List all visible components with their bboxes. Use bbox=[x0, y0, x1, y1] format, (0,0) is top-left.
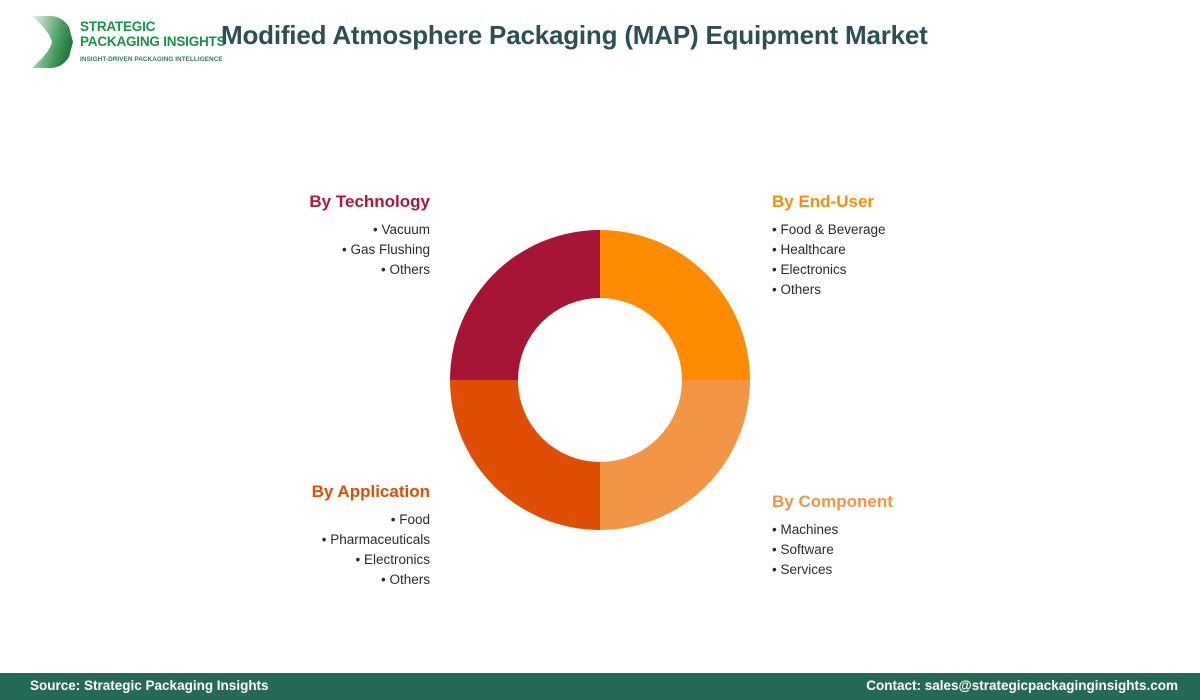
page-header: STRATEGIC PACKAGING INSIGHTS INSIGHT-DRI… bbox=[0, 0, 1200, 90]
page-footer: Source: Strategic Packaging Insights Con… bbox=[0, 673, 1200, 700]
logo-tagline: INSIGHT-DRIVEN PACKAGING INTELLIGENCE bbox=[80, 56, 205, 63]
segment-block-enduser: By End-User Food & Beverage Healthcare E… bbox=[772, 192, 1012, 300]
logo-wordmark: STRATEGIC PACKAGING INSIGHTS INSIGHT-DRI… bbox=[80, 20, 205, 63]
market-segmentation-donut-chart bbox=[450, 230, 750, 530]
donut-center-hole bbox=[518, 298, 682, 462]
segment-title-enduser: By End-User bbox=[772, 192, 1012, 212]
segment-list-component: Machines Software Services bbox=[772, 520, 1012, 580]
page-title: Modified Atmosphere Packaging (MAP) Equi… bbox=[221, 20, 928, 51]
green-chevron-logo-mark-icon bbox=[28, 14, 74, 70]
list-item: Machines bbox=[772, 520, 1012, 540]
brand-logo: STRATEGIC PACKAGING INSIGHTS INSIGHT-DRI… bbox=[28, 12, 203, 74]
list-item: Vacuum bbox=[230, 220, 430, 240]
segment-block-technology: By Technology Vacuum Gas Flushing Others bbox=[230, 192, 430, 280]
list-item: Gas Flushing bbox=[230, 240, 430, 260]
footer-source-text: Source: Strategic Packaging Insights bbox=[30, 678, 269, 693]
list-item: Electronics bbox=[210, 550, 430, 570]
list-item: Food & Beverage bbox=[772, 220, 1012, 240]
segment-block-component: By Component Machines Software Services bbox=[772, 492, 1012, 580]
list-item: Software bbox=[772, 540, 1012, 560]
list-item: Food bbox=[210, 510, 430, 530]
segment-list-application: Food Pharmaceuticals Electronics Others bbox=[210, 510, 430, 590]
segment-title-component: By Component bbox=[772, 492, 1012, 512]
list-item: Others bbox=[772, 280, 1012, 300]
list-item: Others bbox=[230, 260, 430, 280]
segment-list-technology: Vacuum Gas Flushing Others bbox=[230, 220, 430, 280]
list-item: Healthcare bbox=[772, 240, 1012, 260]
segment-title-application: By Application bbox=[210, 482, 430, 502]
footer-contact-email[interactable]: Contact: sales@strategicpackaginginsight… bbox=[866, 678, 1178, 693]
list-item: Electronics bbox=[772, 260, 1012, 280]
segment-title-technology: By Technology bbox=[230, 192, 430, 212]
logo-line-2: PACKAGING INSIGHTS bbox=[80, 35, 205, 50]
list-item: Services bbox=[772, 560, 1012, 580]
list-item: Others bbox=[210, 570, 430, 590]
logo-line-1: STRATEGIC bbox=[80, 20, 205, 35]
list-item: Pharmaceuticals bbox=[210, 530, 430, 550]
segment-block-application: By Application Food Pharmaceuticals Elec… bbox=[210, 482, 430, 590]
segment-list-enduser: Food & Beverage Healthcare Electronics O… bbox=[772, 220, 1012, 300]
